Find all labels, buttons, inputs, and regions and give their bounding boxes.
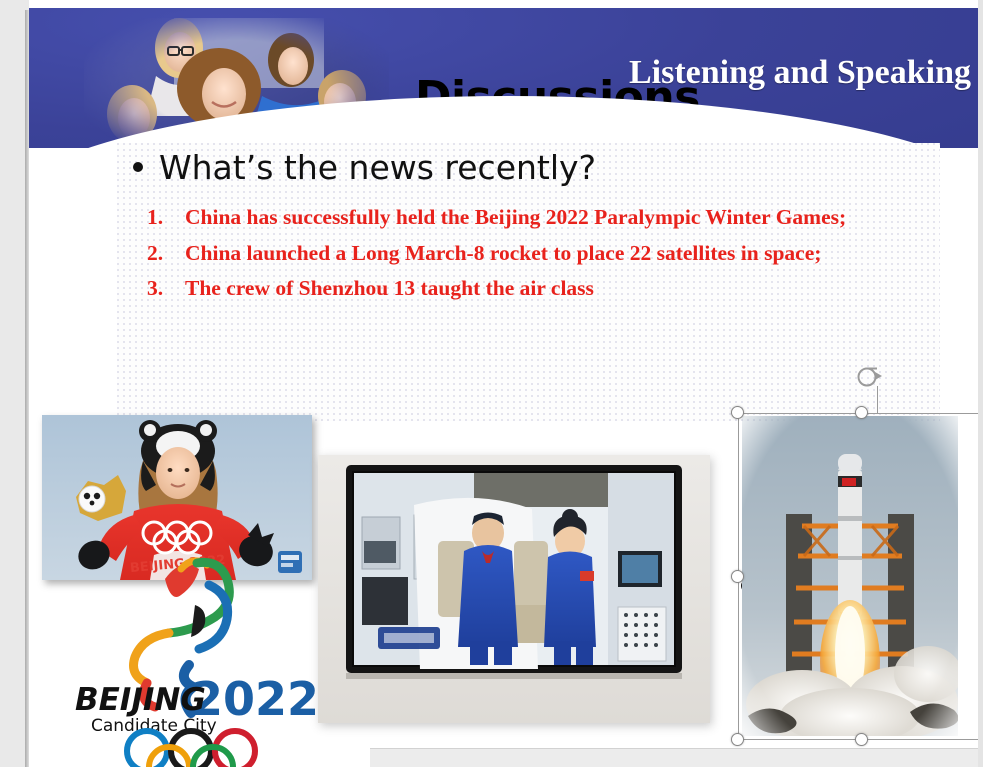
slide-header-banner: Listening and Speaking Discussions — [29, 8, 983, 148]
bullet-dot-icon — [133, 162, 143, 172]
list-item-number: 1. — [147, 201, 181, 234]
content-text-box[interactable]: What’s the news recently? 1. China has s… — [117, 143, 940, 421]
bottom-strip-divider — [370, 748, 983, 749]
news-list: 1. China has successfully held the Beiji… — [129, 201, 928, 308]
list-item-text: China has successfully held the Beijing … — [185, 205, 846, 229]
selection-handle-top-left[interactable] — [731, 406, 744, 419]
list-item: 1. China has successfully held the Beiji… — [129, 201, 928, 234]
shenzhou-13-air-class-photo[interactable] — [318, 455, 710, 723]
logo-beijing-text: BEIJING — [75, 682, 206, 718]
long-march-8-launch-photo[interactable] — [742, 416, 958, 736]
list-item-text: China launched a Long March-8 rocket to … — [185, 241, 821, 265]
beijing-2022-candidate-city-logo: 2022 BEIJING Candidate City — [69, 545, 324, 767]
right-edge-gutter — [978, 0, 983, 767]
powerpoint-slide-stage: Listening and Speaking Discussions What’… — [0, 0, 983, 767]
selection-handle-middle-left[interactable] — [731, 570, 744, 583]
bottom-gray-strip — [370, 748, 983, 767]
question-line: What’s the news recently? — [133, 149, 930, 187]
selection-handle-bottom-left[interactable] — [731, 733, 744, 746]
selection-handle-bottom-center[interactable] — [855, 733, 868, 746]
question-text: What’s the news recently? — [159, 148, 596, 187]
list-item-number: 3. — [147, 272, 181, 305]
list-item-number: 2. — [147, 237, 181, 270]
rotate-handle-stem — [877, 386, 878, 413]
list-item-text: The crew of Shenzhou 13 taught the air c… — [185, 276, 594, 300]
list-item: 3. The crew of Shenzhou 13 taught the ai… — [129, 272, 928, 305]
slide-canvas[interactable]: Listening and Speaking Discussions What’… — [29, 0, 983, 767]
selection-handle-top-center[interactable] — [855, 406, 868, 419]
list-item: 2. China launched a Long March-8 rocket … — [129, 237, 928, 270]
